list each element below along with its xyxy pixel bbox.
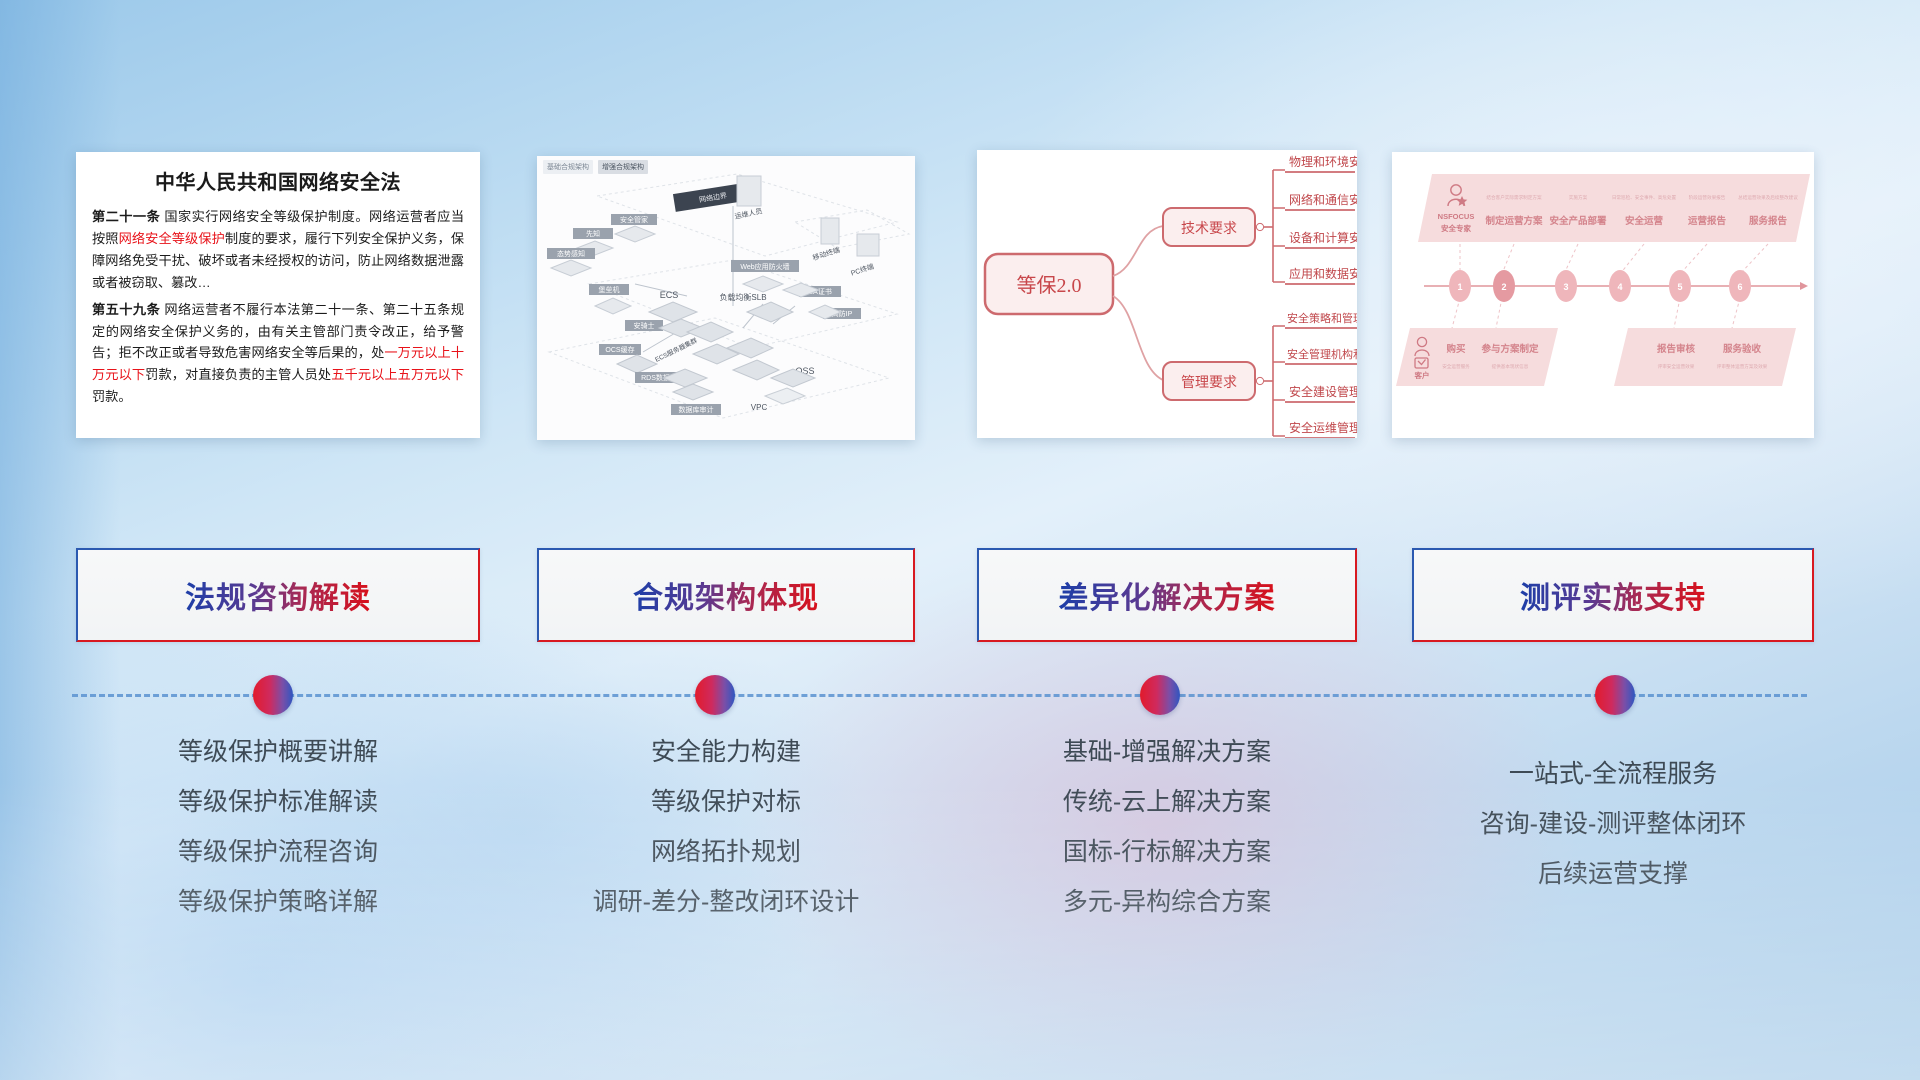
timeline-dot-3[interactable] bbox=[1595, 675, 1635, 715]
detail-list-3: 一站式-全流程服务 咨询-建设-测评整体闭环 后续运营支撑 bbox=[1402, 762, 1824, 912]
list-item: 调研-差分-整改闭环设计 bbox=[527, 890, 925, 915]
list-item: 一站式-全流程服务 bbox=[1402, 762, 1824, 787]
list-item: 传统-云上解决方案 bbox=[967, 790, 1367, 815]
detail-list-1: 安全能力构建 等级保护对标 网络拓扑规划 调研-差分-整改闭环设计 bbox=[527, 740, 925, 940]
section-detail-lists: 等级保护概要讲解 等级保护标准解读 等级保护流程咨询 等级保护策略详解 安全能力… bbox=[0, 740, 1920, 1060]
list-item: 安全能力构建 bbox=[527, 740, 925, 765]
timeline-dashed-line bbox=[72, 694, 1807, 697]
list-item: 等级保护对标 bbox=[527, 790, 925, 815]
list-item: 咨询-建设-测评整体闭环 bbox=[1402, 812, 1824, 837]
list-item: 网络拓扑规划 bbox=[527, 840, 925, 865]
list-item: 多元-异构综合方案 bbox=[967, 890, 1367, 915]
list-item: 基础-增强解决方案 bbox=[967, 740, 1367, 765]
timeline-dot-2[interactable] bbox=[1140, 675, 1180, 715]
list-item: 后续运营支撑 bbox=[1402, 862, 1824, 887]
slide-canvas: 中华人民共和国网络安全法 第二十一条 国家实行网络安全等级保护制度。网络运营者应… bbox=[0, 0, 1920, 1080]
detail-list-2: 基础-增强解决方案 传统-云上解决方案 国标-行标解决方案 多元-异构综合方案 bbox=[967, 740, 1367, 940]
list-item: 国标-行标解决方案 bbox=[967, 840, 1367, 865]
timeline-dot-0[interactable] bbox=[253, 675, 293, 715]
list-item: 等级保护策略详解 bbox=[76, 890, 480, 915]
timeline-dot-1[interactable] bbox=[695, 675, 735, 715]
list-item: 等级保护标准解读 bbox=[76, 790, 480, 815]
detail-list-0: 等级保护概要讲解 等级保护标准解读 等级保护流程咨询 等级保护策略详解 bbox=[76, 740, 480, 940]
list-item: 等级保护概要讲解 bbox=[76, 740, 480, 765]
list-item: 等级保护流程咨询 bbox=[76, 840, 480, 865]
